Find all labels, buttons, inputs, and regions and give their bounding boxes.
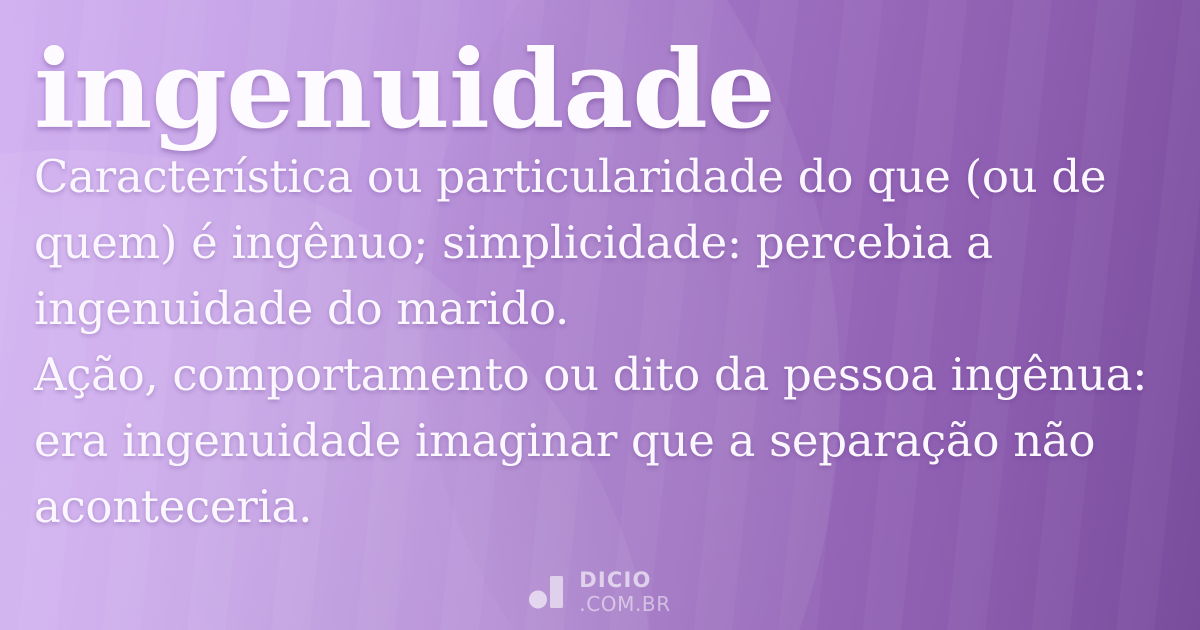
logo-name: DICIO bbox=[579, 570, 671, 591]
page-title: ingenuidade bbox=[34, 0, 1166, 144]
site-logo[interactable]: DICIO .COM.BR bbox=[0, 570, 1200, 614]
dictionary-entry-card: ingenuidade Característica ou particular… bbox=[0, 0, 1200, 630]
definition-item: Característica ou particularidade do que… bbox=[34, 144, 1166, 342]
definition-item: Ação, comportamento ou dito da pessoa in… bbox=[34, 342, 1166, 540]
logo-tld: .COM.BR bbox=[579, 594, 671, 614]
dicio-logo-mark-icon bbox=[529, 574, 569, 610]
entry-content: ingenuidade Característica ou particular… bbox=[0, 0, 1200, 540]
logo-wordmark: DICIO .COM.BR bbox=[579, 570, 671, 614]
definition-list: Característica ou particularidade do que… bbox=[34, 144, 1166, 540]
